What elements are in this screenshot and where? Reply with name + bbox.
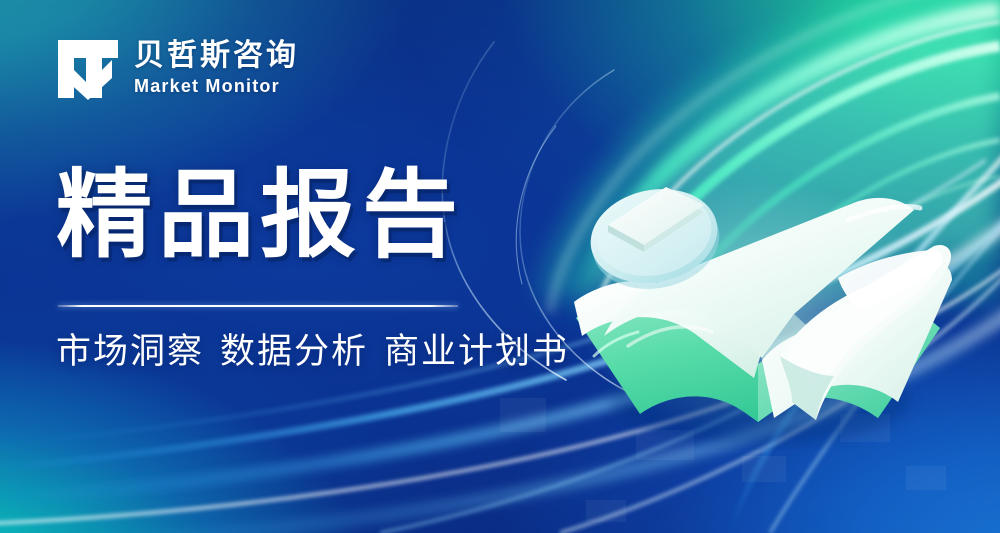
m-chevron-logo-icon	[56, 38, 120, 100]
brand-name-cn: 贝哲斯咨询	[134, 40, 299, 72]
brand-name-en: Market Monitor	[134, 75, 299, 98]
headline-divider	[58, 305, 458, 307]
subtitle-item-2: 数据分析	[220, 332, 368, 371]
subtitle-item-3: 商业计划书	[384, 332, 569, 371]
brand-logo: 贝哲斯咨询 Market Monitor	[56, 38, 299, 100]
promo-banner: 贝哲斯咨询 Market Monitor 精品报告 市场洞察数据分析商业计划书	[0, 0, 1000, 533]
open-book-3d-illustration	[548, 150, 968, 450]
logo-wordmarks: 贝哲斯咨询 Market Monitor	[134, 40, 299, 98]
subtitle-line: 市场洞察数据分析商业计划书	[56, 330, 569, 374]
subtitle-item-1: 市场洞察	[56, 332, 204, 371]
page-title: 精品报告	[56, 168, 464, 264]
